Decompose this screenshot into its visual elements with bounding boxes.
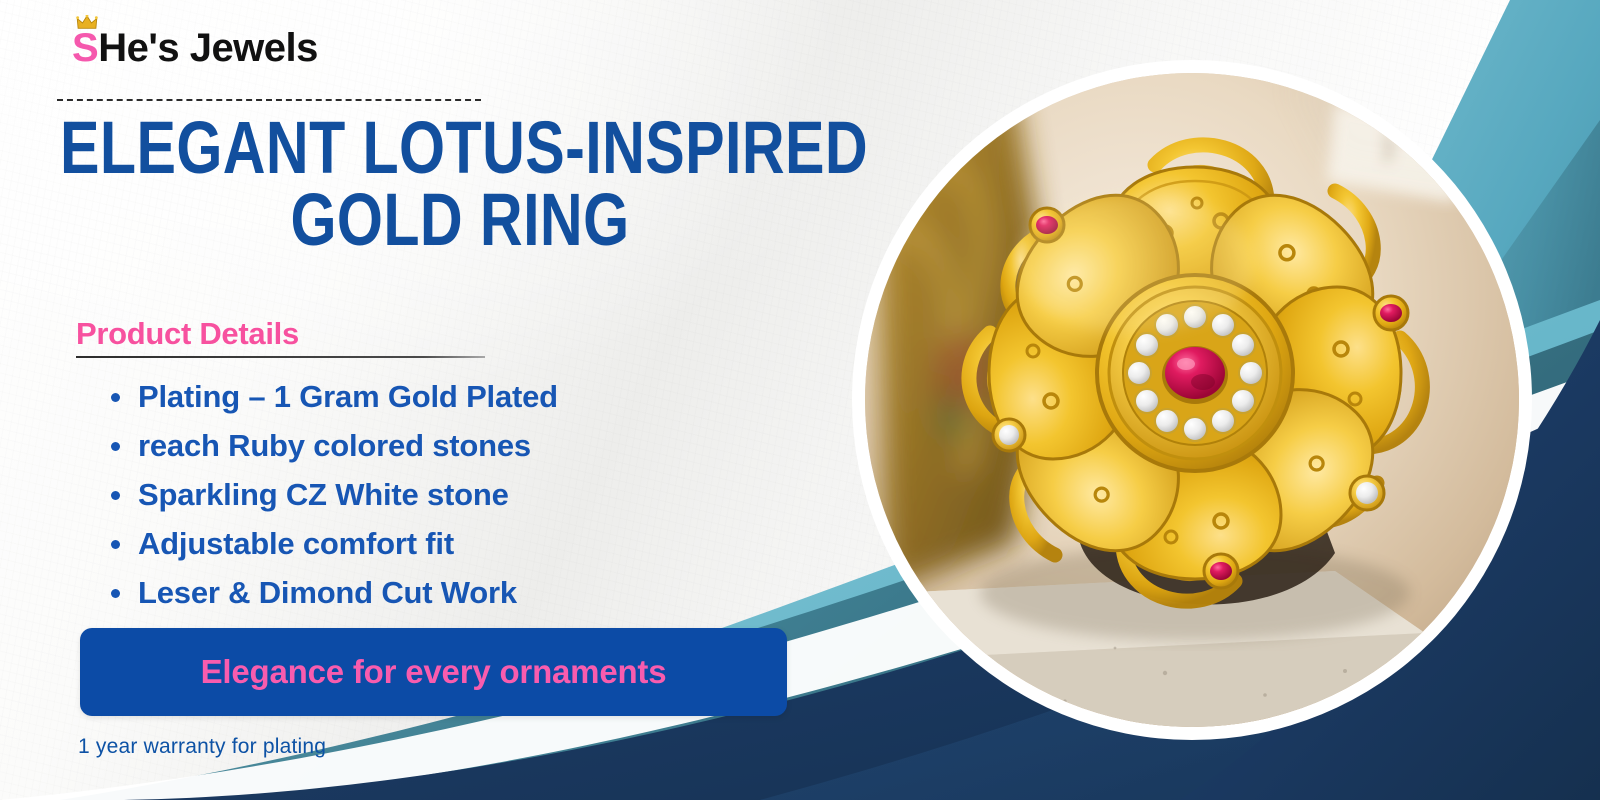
cta-button-label: Elegance for every ornaments: [201, 653, 667, 691]
product-image-frame: [852, 60, 1532, 740]
list-item: Sparkling CZ White stone: [106, 470, 558, 519]
ring-photo-illustration: [865, 73, 1519, 727]
header-divider: [57, 99, 481, 101]
list-item: Leser & Dimond Cut Work: [106, 568, 558, 617]
product-details-underline: [76, 356, 485, 358]
brand-logo[interactable]: S He's Jewels: [72, 28, 318, 68]
product-image: [865, 73, 1519, 727]
list-item: Plating – 1 Gram Gold Plated: [106, 372, 558, 421]
brand-name: He's Jewels: [98, 28, 318, 68]
promo-banner: S He's Jewels ELEGANT LOTUS-INSPIRED GOL…: [0, 0, 1600, 800]
list-item: reach Ruby colored stones: [106, 421, 558, 470]
page-title: ELEGANT LOTUS-INSPIRED GOLD RING: [60, 112, 860, 256]
warranty-note: 1 year warranty for plating: [78, 735, 326, 759]
brand-initial: S: [72, 26, 98, 70]
cta-button[interactable]: Elegance for every ornaments: [80, 628, 787, 716]
page-title-line-2: GOLD RING: [60, 184, 860, 256]
crown-icon: [76, 15, 98, 31]
brand-initial-wrap: S: [72, 28, 98, 68]
content-column: S He's Jewels ELEGANT LOTUS-INSPIRED GOL…: [0, 0, 880, 800]
page-title-line-1: ELEGANT LOTUS-INSPIRED: [60, 112, 860, 184]
product-details-list: Plating – 1 Gram Gold Plated reach Ruby …: [106, 372, 558, 617]
product-details-heading: Product Details: [76, 316, 299, 352]
center-ruby: [1162, 346, 1228, 404]
list-item: Adjustable comfort fit: [106, 519, 558, 568]
